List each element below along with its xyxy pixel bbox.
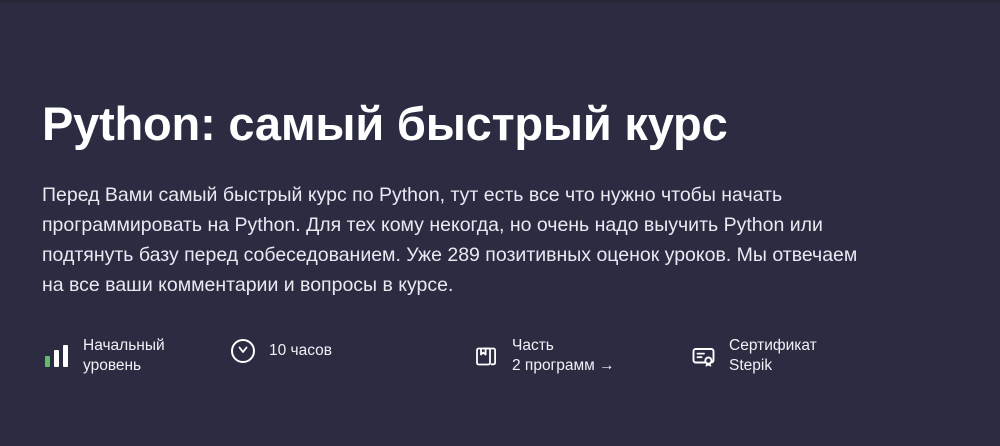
- stat-level-text: Начальный уровень: [83, 336, 165, 376]
- stat-part-text: Часть 2 программ →: [512, 336, 615, 376]
- stat-duration-text: 10 часов: [269, 341, 332, 361]
- page-title: Python: самый быстрый курс: [42, 96, 728, 152]
- course-description: Перед Вами самый быстрый курс по Python,…: [42, 180, 872, 300]
- clock-icon: [228, 336, 258, 366]
- stat-level-line1: Начальный: [83, 336, 165, 356]
- stat-part-line1: Часть: [512, 336, 615, 356]
- certificate-icon: [688, 341, 718, 371]
- course-stats-row: Начальный уровень 10 часов: [42, 336, 922, 376]
- bar-chart-icon: [42, 341, 72, 371]
- stat-certificate-line1: Сертификат: [729, 336, 817, 356]
- stat-certificate-line2: Stepik: [729, 356, 817, 376]
- course-hero-banner: Python: самый быстрый курс Перед Вами са…: [0, 0, 1000, 446]
- stat-level-line2: уровень: [83, 356, 165, 376]
- stat-part-line2[interactable]: 2 программ →: [512, 356, 615, 376]
- stat-duration: 10 часов: [228, 336, 471, 366]
- stat-certificate-text: Сертификат Stepik: [729, 336, 817, 376]
- stat-level: Начальный уровень: [42, 336, 228, 376]
- stat-certificate: Сертификат Stepik: [688, 336, 888, 376]
- top-edge-divider: [0, 0, 1000, 3]
- stat-part: Часть 2 программ →: [471, 336, 688, 376]
- books-icon: [471, 341, 501, 371]
- stat-duration-line1: 10 часов: [269, 341, 332, 361]
